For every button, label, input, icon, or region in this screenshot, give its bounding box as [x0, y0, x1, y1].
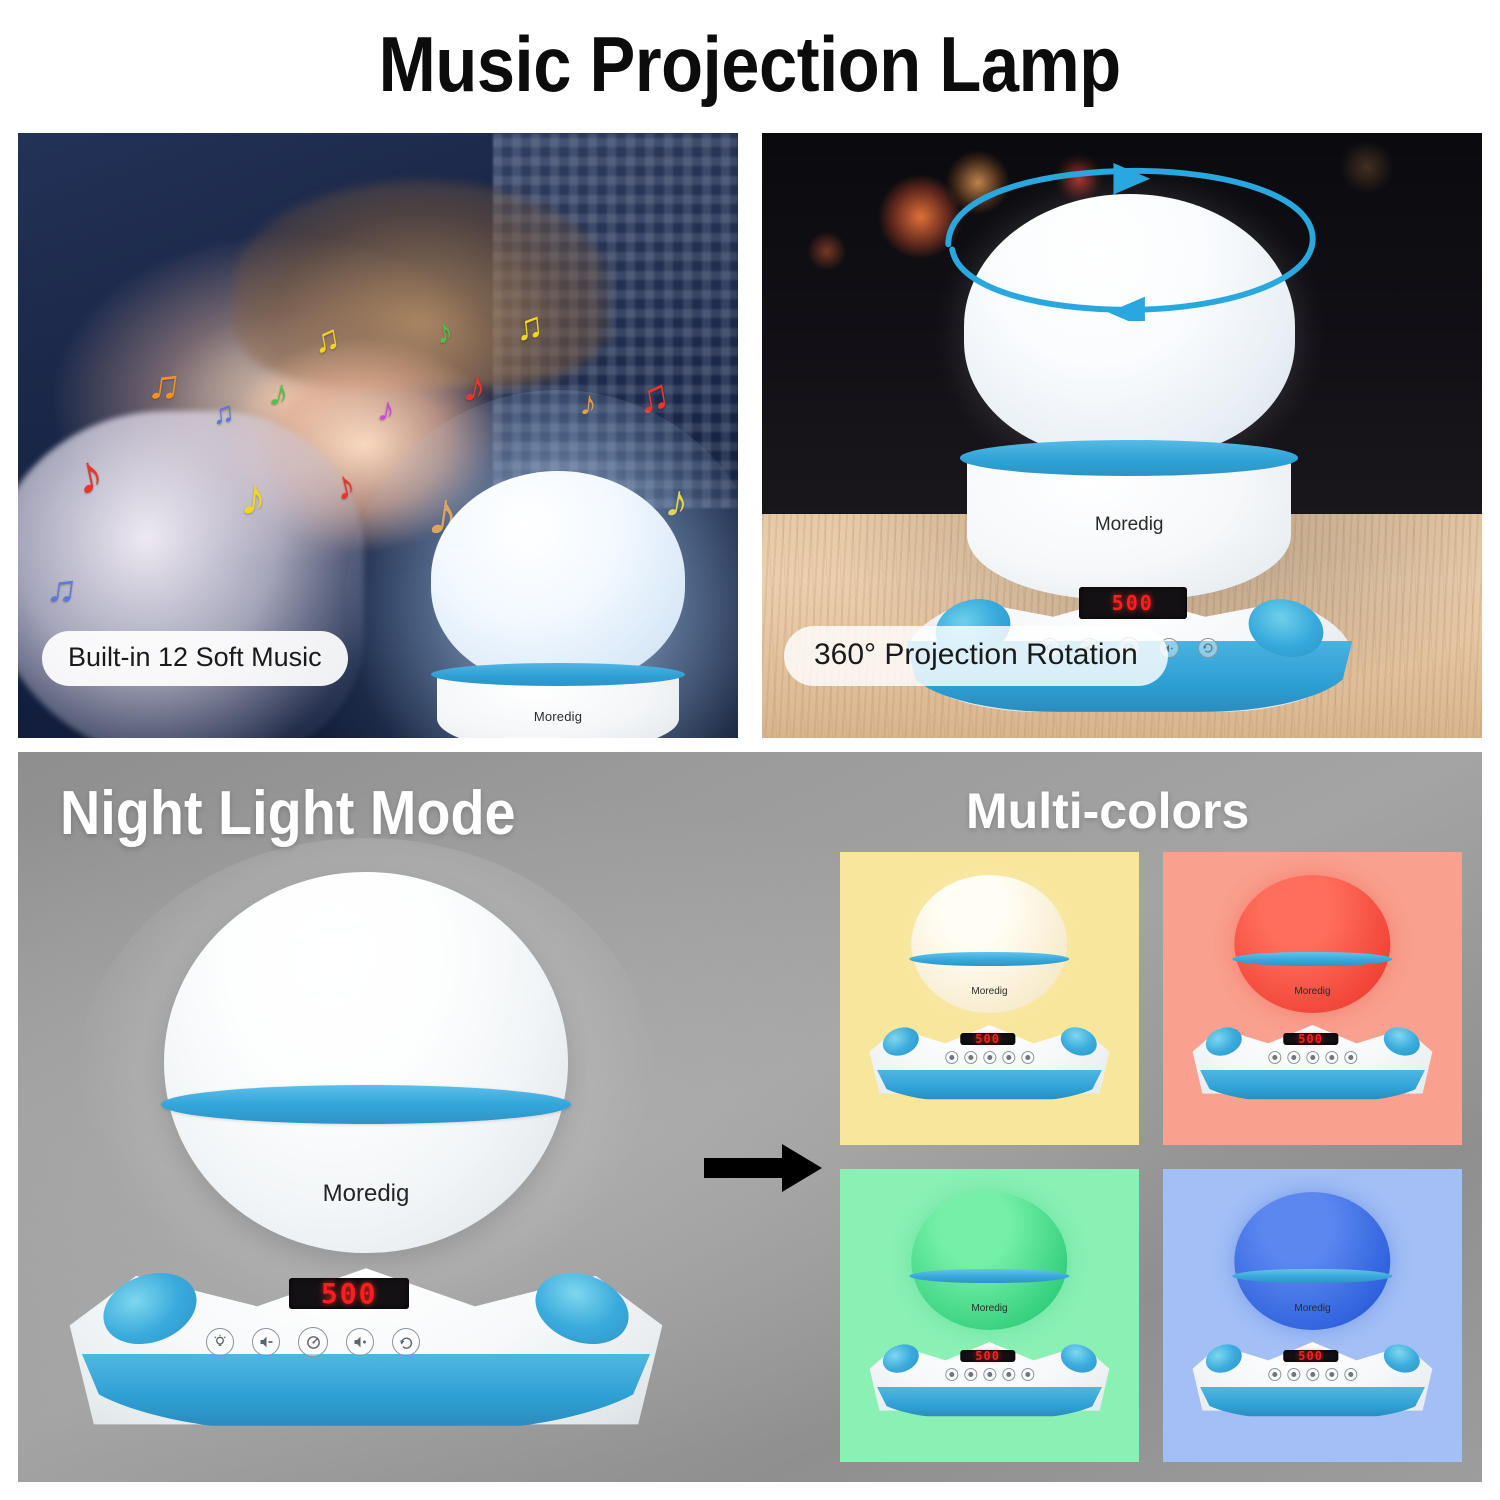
timer-icon — [305, 1334, 322, 1351]
volume-down-button[interactable] — [252, 1328, 280, 1356]
bulb-icon — [949, 1372, 954, 1377]
brand-logo: Moredig — [1095, 514, 1164, 536]
rotation-toggle-button[interactable] — [392, 1328, 420, 1356]
led-display: 500 — [960, 1350, 1016, 1362]
button-row — [928, 1365, 1050, 1385]
lamp-dome — [431, 471, 684, 686]
lamp-product-small: Moredig — [414, 460, 702, 738]
rotation-toggle-button[interactable] — [1344, 1368, 1357, 1381]
volume-down-button[interactable] — [1287, 1368, 1300, 1381]
lamp-product-hero: Moredig 500 — [126, 872, 606, 1432]
color-swatch-red: Moredig500 — [1163, 852, 1462, 1145]
led-value: 500 — [975, 1349, 1000, 1363]
light-mode-button[interactable] — [945, 1368, 958, 1381]
color-swatch-blue: Moredig500 — [1163, 1169, 1462, 1462]
color-swatch-green: Moredig500 — [840, 1169, 1139, 1462]
button-row — [164, 1314, 462, 1370]
brand-logo: Moredig — [1294, 1303, 1330, 1314]
speaker-plus-icon — [1329, 1055, 1334, 1060]
caption-text: Built-in 12 Soft Music — [68, 642, 322, 673]
lamp-blue-band — [1233, 952, 1392, 967]
section-heading-multicolors: Multi-colors — [966, 782, 1249, 840]
speaker-plus-icon — [1006, 1372, 1011, 1377]
bulb-icon — [1272, 1372, 1277, 1377]
section-heading-night-light: Night Light Mode — [60, 778, 516, 849]
led-display: 500 — [960, 1033, 1016, 1045]
volume-down-button[interactable] — [1287, 1051, 1300, 1064]
bulb-icon — [949, 1055, 954, 1060]
led-value: 500 — [1298, 1349, 1323, 1363]
color-swatch-warm-white: Moredig500 — [840, 852, 1139, 1145]
volume-up-button[interactable] — [1002, 1051, 1015, 1064]
lamp-product-thumb: Moredig500 — [897, 1192, 1082, 1438]
rotate-icon — [1025, 1372, 1030, 1377]
rotation-toggle-button[interactable] — [1344, 1051, 1357, 1064]
light-mode-button[interactable] — [1268, 1368, 1281, 1381]
bulb-icon — [212, 1334, 228, 1350]
rotate-icon — [398, 1334, 415, 1351]
led-display: 500 — [289, 1278, 409, 1309]
led-value: 500 — [975, 1032, 1000, 1046]
top-panel-row: ♪♫♫♪♫♪♪♪♪♪♫♪♪♪♫♪♪♫♫♪ Moredig Built-in 12… — [18, 133, 1482, 738]
volume-up-button[interactable] — [1325, 1368, 1338, 1381]
timer-power-button[interactable] — [298, 1327, 328, 1357]
speaker-minus-icon — [1291, 1372, 1296, 1377]
blanket — [18, 411, 364, 738]
light-mode-button[interactable] — [945, 1051, 958, 1064]
caption-badge-rotation: 360° Projection Rotation — [784, 626, 1168, 686]
timer-icon — [987, 1372, 992, 1377]
button-row — [1251, 1365, 1373, 1385]
speaker-plus-icon — [1006, 1055, 1011, 1060]
brand-logo: Moredig — [1294, 986, 1330, 997]
bulb-icon — [1272, 1055, 1277, 1060]
lamp-base-blue-trim — [867, 1070, 1112, 1102]
speaker-minus-icon — [1291, 1055, 1296, 1060]
rotation-arrow-loop — [906, 163, 1352, 320]
volume-up-button[interactable] — [1325, 1051, 1338, 1064]
speaker-minus-icon — [968, 1372, 973, 1377]
button-row — [928, 1048, 1050, 1068]
button-row — [1251, 1048, 1373, 1068]
speaker-plus-icon — [352, 1334, 369, 1350]
volume-up-button[interactable] — [1002, 1368, 1015, 1381]
timer-power-button[interactable] — [983, 1368, 996, 1381]
led-value: 500 — [1298, 1032, 1323, 1046]
panel-night-light-mode: Night Light Mode Multi-colors Moredig 50… — [18, 752, 1482, 1482]
lamp-product-thumb: Moredig500 — [897, 875, 1082, 1121]
rotate-icon — [1025, 1055, 1030, 1060]
page-title: Music Projection Lamp — [379, 19, 1121, 110]
lamp-blue-band — [431, 663, 684, 686]
led-display: 500 — [1079, 587, 1187, 619]
lamp-blue-band — [1233, 1269, 1392, 1284]
timer-power-button[interactable] — [1306, 1051, 1319, 1064]
light-mode-button[interactable] — [206, 1328, 234, 1356]
lamp-base-blue-trim — [867, 1387, 1112, 1419]
timer-icon — [1310, 1055, 1315, 1060]
flow-arrow-icon — [704, 1140, 822, 1196]
timer-icon — [987, 1055, 992, 1060]
brand-logo: Moredig — [323, 1180, 410, 1208]
volume-down-button[interactable] — [964, 1368, 977, 1381]
light-mode-button[interactable] — [1268, 1051, 1281, 1064]
timer-power-button[interactable] — [983, 1051, 996, 1064]
caption-badge-music: Built-in 12 Soft Music — [42, 631, 348, 686]
volume-down-button[interactable] — [964, 1051, 977, 1064]
lamp-blue-band — [910, 1269, 1069, 1284]
panel-music-feature: ♪♫♫♪♫♪♪♪♪♪♫♪♪♪♫♪♪♫♫♪ Moredig Built-in 12… — [18, 133, 738, 738]
lamp-product-thumb: Moredig500 — [1220, 875, 1405, 1121]
rotate-icon — [1348, 1372, 1353, 1377]
brand-logo: Moredig — [534, 709, 582, 724]
brand-logo: Moredig — [971, 986, 1007, 997]
rotation-toggle-button[interactable] — [1198, 638, 1218, 658]
rotate-icon — [1202, 642, 1214, 654]
lamp-product-thumb: Moredig500 — [1220, 1192, 1405, 1438]
lamp-base-blue-trim — [1190, 1070, 1435, 1102]
led-display: 500 — [1283, 1350, 1339, 1362]
brand-logo: Moredig — [971, 1303, 1007, 1314]
lamp-base-blue-trim — [1190, 1387, 1435, 1419]
timer-power-button[interactable] — [1306, 1368, 1319, 1381]
panel-rotation-feature: Moredig 500 — [762, 133, 1482, 738]
timer-icon — [1310, 1372, 1315, 1377]
page-header: Music Projection Lamp — [0, 0, 1500, 128]
rotation-arrowhead-right — [1113, 163, 1150, 194]
rotate-icon — [1348, 1055, 1353, 1060]
lamp-blue-band — [960, 440, 1298, 476]
led-value: 500 — [321, 1277, 378, 1310]
caption-text: 360° Projection Rotation — [814, 638, 1138, 672]
lamp-blue-band — [161, 1085, 572, 1124]
multicolor-swatch-grid: Moredig500Moredig500Moredig500Moredig500 — [840, 852, 1462, 1462]
volume-up-button[interactable] — [346, 1328, 374, 1356]
speaker-minus-icon — [258, 1334, 275, 1350]
lamp-blue-band — [910, 952, 1069, 967]
rotation-toggle-button[interactable] — [1021, 1051, 1034, 1064]
rotation-toggle-button[interactable] — [1021, 1368, 1034, 1381]
speaker-plus-icon — [1329, 1372, 1334, 1377]
speaker-minus-icon — [968, 1055, 973, 1060]
led-value: 500 — [1112, 591, 1154, 615]
led-display: 500 — [1283, 1033, 1339, 1045]
